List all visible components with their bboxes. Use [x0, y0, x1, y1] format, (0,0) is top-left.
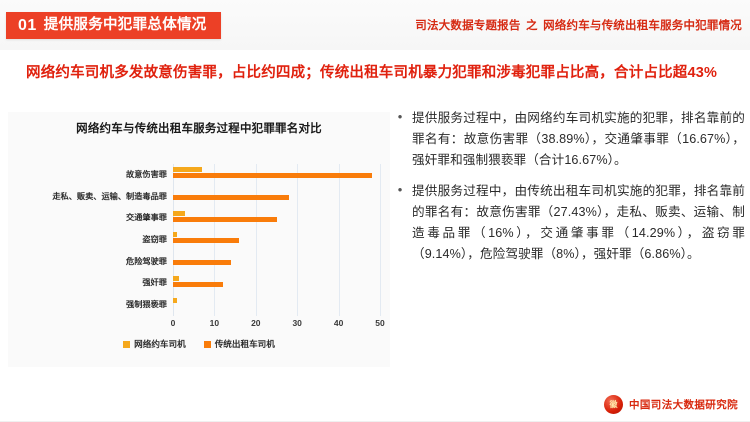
chart-bar-group [173, 298, 380, 313]
bullet-list: •提供服务过程中，由网络约车司机实施的犯罪，排名靠前的罪名有：故意伤害罪（38.… [395, 108, 745, 275]
chart-bar [173, 276, 179, 281]
chart-category-label: 走私、贩卖、运输、制造毒品罪 [8, 192, 171, 202]
organization-name: 中国司法大数据研究院 [629, 397, 738, 412]
chart-bar [173, 232, 177, 237]
bullet-text: 提供服务过程中，由网络约车司机实施的犯罪，排名靠前的罪名有：故意伤害罪（38.8… [412, 108, 745, 171]
bullet-item: •提供服务过程中，由网络约车司机实施的犯罪，排名靠前的罪名有：故意伤害罪（38.… [395, 108, 745, 171]
bullet-text: 提供服务过程中，由传统出租车司机实施的犯罪，排名靠前的罪名有：故意伤害罪（27.… [412, 181, 745, 265]
chart-bar-group [173, 276, 380, 291]
chart-category-labels: 故意伤害罪走私、贩卖、运输、制造毒品罪交通肇事罪盗窃罪危险驾驶罪强奸罪强制猥亵罪 [8, 164, 171, 316]
chart-bar [173, 282, 223, 287]
top-banner: 01 提供服务中犯罪总体情况 司法大数据专题报告 之 网络约车与传统出租车服务中… [0, 0, 750, 50]
chart-panel: 网络约车与传统出租车服务过程中犯罪罪名对比 故意伤害罪走私、贩卖、运输、制造毒品… [8, 112, 390, 367]
chart-plot-area: 故意伤害罪走私、贩卖、运输、制造毒品罪交通肇事罪盗窃罪危险驾驶罪强奸罪强制猥亵罪… [8, 152, 390, 327]
bullet-marker-icon: • [395, 181, 405, 265]
chart-bar [173, 167, 202, 172]
chart-category-label: 强制猥亵罪 [8, 300, 171, 310]
chart-bar-group [173, 254, 380, 269]
chart-category-label: 危险驾驶罪 [8, 257, 171, 267]
chart-x-tick: 0 [171, 318, 176, 328]
chart-legend-item[interactable]: 网络约车司机 [123, 338, 186, 350]
chart-category-label: 故意伤害罪 [8, 170, 171, 180]
chart-x-tick: 10 [210, 318, 219, 328]
report-title: 司法大数据专题报告 之 网络约车与传统出租车服务中犯罪情况 [415, 17, 742, 33]
chart-legend-swatch-icon [204, 341, 211, 348]
chart-bar [173, 238, 239, 243]
chart-category-label: 交通肇事罪 [8, 213, 171, 223]
chart-bar [173, 211, 185, 216]
chart-bar-group [173, 189, 380, 204]
national-emblem-icon: 徽 [604, 395, 623, 414]
chart-x-tick: 40 [334, 318, 343, 328]
chart-x-tick: 30 [292, 318, 301, 328]
chart-category-label: 盗窃罪 [8, 235, 171, 245]
chart-grid-area [173, 164, 380, 316]
chart-legend-swatch-icon [123, 341, 130, 348]
bullet-item: •提供服务过程中，由传统出租车司机实施的犯罪，排名靠前的罪名有：故意伤害罪（27… [395, 181, 745, 265]
footer-logo: 徽 中国司法大数据研究院 [604, 395, 738, 414]
chart-gridline [380, 164, 381, 316]
headline-text: 网络约车司机多发故意伤害罪，占比约四成；传统出租车司机暴力犯罪和涉毒犯罪占比高，… [26, 63, 726, 84]
chart-legend-label: 传统出租车司机 [215, 338, 275, 350]
chart-bar-group [173, 232, 380, 247]
chart-bar-group [173, 211, 380, 226]
chart-bar [173, 260, 231, 265]
chart-category-label: 强奸罪 [8, 278, 171, 288]
report-title-suffix: 网络约车与传统出租车服务中犯罪情况 [543, 20, 742, 32]
chart-bar-group [173, 167, 380, 182]
chart-bar-rows [173, 164, 380, 316]
report-title-prefix: 司法大数据专题报告 [415, 20, 520, 32]
bullet-marker-icon: • [395, 108, 405, 171]
chart-legend: 网络约车司机传统出租车司机 [8, 338, 390, 350]
chart-title: 网络约车与传统出租车服务过程中犯罪罪名对比 [8, 120, 390, 136]
section-title: 提供服务中犯罪总体情况 [44, 18, 207, 33]
chart-legend-label: 网络约车司机 [134, 338, 186, 350]
chart-x-tick: 50 [375, 318, 384, 328]
chart-bar [173, 298, 177, 303]
chart-x-tick: 20 [251, 318, 260, 328]
section-number: 01 [18, 18, 37, 34]
section-chip: 01 提供服务中犯罪总体情况 [6, 12, 221, 39]
chart-legend-item[interactable]: 传统出租车司机 [204, 338, 275, 350]
chart-bar [173, 217, 277, 222]
chart-bar [173, 195, 289, 200]
chart-x-axis: 01020304050 [173, 318, 380, 334]
chart-bar [173, 173, 372, 178]
report-title-separator: 之 [526, 20, 538, 32]
